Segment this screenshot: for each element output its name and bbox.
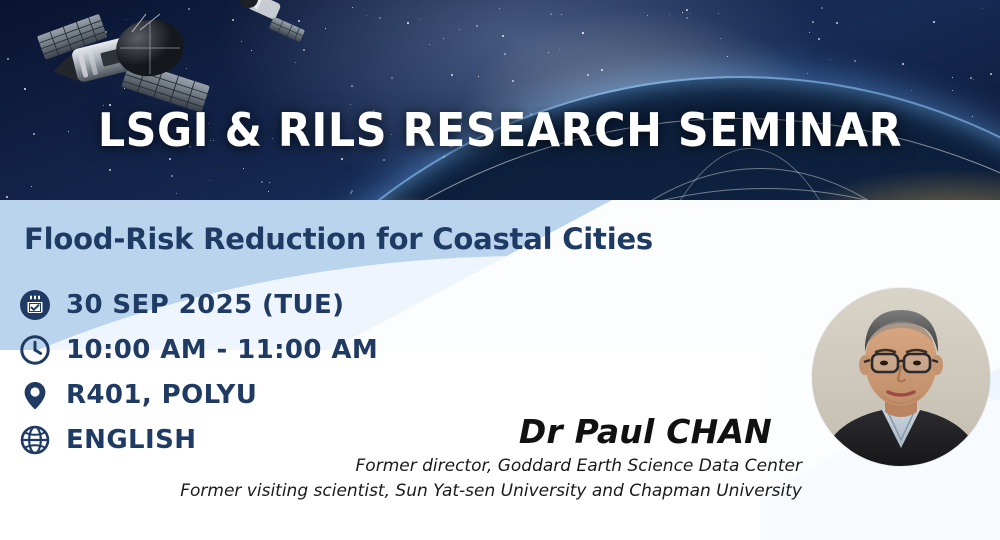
banner-space-background: LSGI & RILS RESEARCH SEMINAR [0,0,1000,200]
page-title: LSGI & RILS RESEARCH SEMINAR [35,104,965,156]
seminar-poster: LSGI & RILS RESEARCH SEMINAR Flood-Risk … [0,0,1000,540]
speaker-affiliation-2: Former visiting scientist, Sun Yat-sen U… [180,481,802,501]
detail-row-time: 10:00 AM - 11:00 AM [18,327,378,372]
detail-row-venue: R401, POLYU [18,372,378,417]
speaker-affiliation-1: Former director, Goddard Earth Science D… [356,456,802,476]
detail-row-language: ENGLISH [18,417,378,462]
detail-date-label: 30 SEP 2025 (TUE) [66,290,344,320]
globe-icon [18,423,52,457]
seminar-details-list: 30 SEP 2025 (TUE) 10:00 AM - 11:00 AM R4… [18,282,378,462]
detail-time-label: 10:00 AM - 11:00 AM [66,335,378,365]
satellite-small-icon [222,0,312,52]
detail-venue-label: R401, POLYU [66,380,257,410]
clock-icon [18,333,52,367]
speaker-portrait [812,288,990,466]
speaker-name: Dr Paul CHAN [519,412,772,451]
calendar-icon [18,288,52,322]
detail-row-date: 30 SEP 2025 (TUE) [18,282,378,327]
seminar-subtitle: Flood-Risk Reduction for Coastal Cities [24,222,653,256]
detail-language-label: ENGLISH [66,425,196,455]
location-pin-icon [18,378,52,412]
